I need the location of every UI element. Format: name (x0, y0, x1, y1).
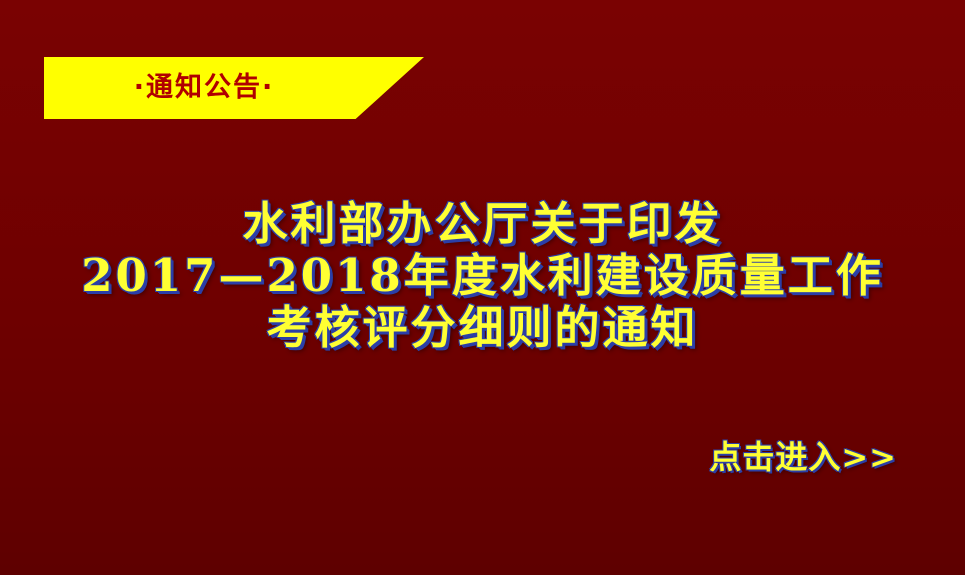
page-title-line-2: 2017—2018年度水利建设质量工作 (0, 250, 965, 302)
tag-label: ·通知公告· (44, 57, 364, 119)
page-title-line-3: 考核评分细则的通知 (0, 302, 965, 354)
notice-category-tag: ·通知公告· (44, 57, 424, 119)
enter-link[interactable]: 点击进入>> (709, 432, 897, 478)
page-title: 水利部办公厅关于印发 2017—2018年度水利建设质量工作 考核评分细则的通知 (0, 198, 965, 354)
notice-banner: ·通知公告· 水利部办公厅关于印发 2017—2018年度水利建设质量工作 考核… (0, 0, 965, 575)
page-title-line-1: 水利部办公厅关于印发 (0, 198, 965, 250)
